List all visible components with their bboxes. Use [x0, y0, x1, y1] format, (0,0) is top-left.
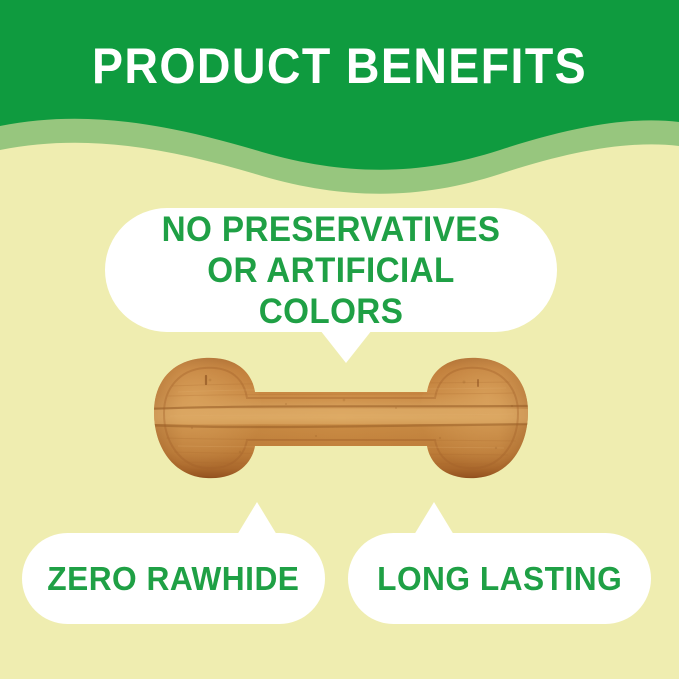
benefit-zero-rawhide-label: ZERO RAWHIDE: [47, 560, 299, 598]
benefit-bubble-long-lasting: LONG LASTING: [348, 533, 651, 624]
benefit-primary-line2: OR ARTIFICIAL COLORS: [207, 251, 455, 331]
bubble-tail-primary: [320, 330, 372, 363]
page-title: PRODUCT BENEFITS: [24, 38, 655, 94]
dog-bone-chew-treat: [148, 352, 534, 502]
bubble-tail-zero-rawhide: [237, 502, 277, 535]
product-benefits-infographic: PRODUCT BENEFITS: [0, 0, 679, 679]
bubble-tail-long-lasting: [414, 502, 454, 535]
benefit-bubble-primary-text: NO PRESERVATIVES OR ARTIFICIAL COLORS: [141, 209, 521, 332]
header-wave-background: [0, 0, 679, 230]
benefit-long-lasting-label: LONG LASTING: [377, 560, 622, 598]
bone-surface-detail: [148, 352, 534, 502]
benefit-bubble-no-preservatives: NO PRESERVATIVES OR ARTIFICIAL COLORS: [105, 208, 557, 332]
benefit-primary-line1: NO PRESERVATIVES: [162, 210, 501, 249]
benefit-bubble-zero-rawhide: ZERO RAWHIDE: [22, 533, 325, 624]
